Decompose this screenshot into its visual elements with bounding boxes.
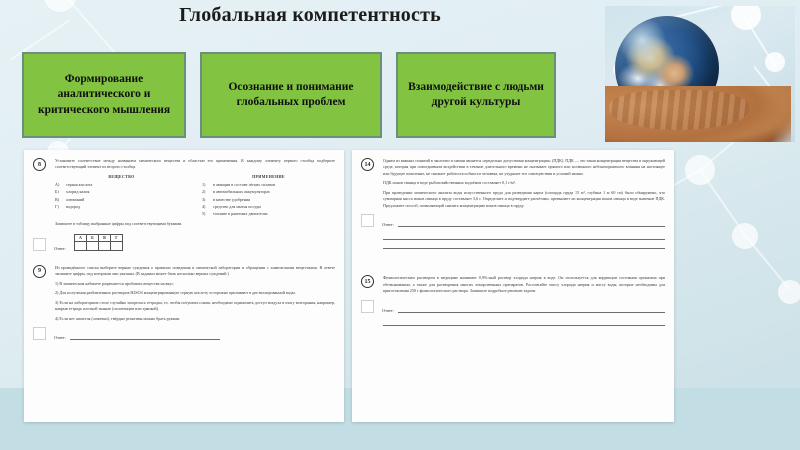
competency-box-intercultural[interactable]: Взаимодействие с людьми другой культуры bbox=[396, 52, 556, 138]
exam-page-right: 14 Одним из важных понятий в экологии и … bbox=[352, 150, 674, 422]
task-14-score-checkbox[interactable] bbox=[361, 214, 374, 227]
item-key: 4) bbox=[202, 204, 210, 210]
item-text: средство для мытья посуды bbox=[213, 204, 261, 210]
task-9-option-3: 3) Если на лабораторном столе случайно з… bbox=[55, 300, 335, 313]
competency-box-global-problems-label: Осознание и понимание глобальных проблем bbox=[208, 80, 374, 110]
task-number-badge: 15 bbox=[361, 275, 374, 288]
list-item: 1) в авиации в составе лёгких сплавов bbox=[202, 182, 335, 188]
competency-box-analytical-label: Формирование аналитического и критическо… bbox=[30, 72, 178, 118]
blank-answer-line[interactable] bbox=[383, 231, 665, 240]
item-text: в авиации в составе лёгких сплавов bbox=[213, 182, 275, 188]
hands bbox=[605, 86, 791, 142]
hands-holding-earth-photo bbox=[605, 6, 795, 142]
list-item: В) алюминий bbox=[55, 197, 188, 203]
task-8-column-applications-header: ПРИМЕНЕНИЕ bbox=[202, 174, 335, 180]
table-row bbox=[74, 241, 122, 250]
list-item: 2) в автомобильных аккумуляторах bbox=[202, 189, 335, 195]
item-key: 1) bbox=[202, 182, 210, 188]
exam-page-left: 8 Установите соответствие между название… bbox=[24, 150, 344, 422]
task-8-column-substances-header: ВЕЩЕСТВО bbox=[55, 174, 188, 180]
task-14-answer-row: Ответ: bbox=[361, 214, 665, 227]
task-8-answer-row: Ответ: А Б В Г bbox=[33, 234, 335, 251]
blank-answer-line[interactable] bbox=[383, 317, 665, 326]
task-15-answer-label: Ответ: bbox=[382, 308, 394, 313]
list-item: 5) топливо в ракетных двигателях bbox=[202, 211, 335, 217]
task-9-option-4: 4) Если нет шпателя (ложечки), твёрдые р… bbox=[55, 316, 335, 322]
item-text: серная кислота bbox=[66, 182, 92, 188]
item-key: Г) bbox=[55, 204, 63, 210]
presentation-slide: Глобальная компетентность Формирование а… bbox=[0, 0, 800, 450]
task-8-instruction: Запишите в таблицу выбранные цифры под с… bbox=[55, 221, 335, 227]
list-item: Г) водород bbox=[55, 204, 188, 210]
item-text: алюминий bbox=[66, 197, 84, 203]
list-item: А) серная кислота bbox=[55, 182, 188, 188]
task-9-statement: Из приведённого списка выберите верные с… bbox=[55, 265, 335, 278]
task-15-score-checkbox[interactable] bbox=[361, 300, 374, 313]
list-item: 3) в качестве удобрения bbox=[202, 197, 335, 203]
task-15-statement: Физиологическим раствором в медицине наз… bbox=[383, 275, 665, 294]
task-15-answer-input-line[interactable] bbox=[398, 307, 665, 313]
task-8-column-applications: ПРИМЕНЕНИЕ 1) в авиации в составе лёгких… bbox=[202, 174, 335, 219]
table-header-cell: Г bbox=[110, 234, 122, 241]
exam-task-15: 15 Физиологическим раствором в медицине … bbox=[361, 275, 665, 325]
item-text: водород bbox=[66, 204, 80, 210]
task-14-answer-input-line[interactable] bbox=[398, 221, 665, 227]
list-item: 4) средство для мытья посуды bbox=[202, 204, 335, 210]
table-row: А Б В Г bbox=[74, 234, 122, 241]
task-8-statement: Установите соответствие между названием … bbox=[55, 158, 335, 171]
table-header-cell: В bbox=[98, 234, 110, 241]
table-cell[interactable] bbox=[74, 241, 86, 250]
task-15-blank-lines bbox=[383, 317, 665, 326]
task-14-answer-label: Ответ: bbox=[382, 222, 394, 227]
table-header-cell: Б bbox=[86, 234, 98, 241]
blank-answer-line[interactable] bbox=[383, 240, 665, 249]
task-number-badge: 9 bbox=[33, 265, 46, 278]
task-8-column-substances: ВЕЩЕСТВО А) серная кислота Б) хлорид кал… bbox=[55, 174, 188, 219]
item-text: топливо в ракетных двигателях bbox=[213, 211, 268, 217]
item-text: в автомобильных аккумуляторах bbox=[213, 189, 270, 195]
competency-boxes: Формирование аналитического и критическо… bbox=[0, 52, 600, 142]
page-title: Глобальная компетентность bbox=[0, 4, 620, 27]
task-14-statement: Одним из важных понятий в экологии и хим… bbox=[383, 158, 665, 177]
task-8-score-checkbox[interactable] bbox=[33, 238, 46, 251]
exam-task-9: 9 Из приведённого списка выберите верные… bbox=[33, 265, 335, 340]
table-cell[interactable] bbox=[98, 241, 110, 250]
task-14-pdk-value: ПДК ионов свинца в воде рыбохозяйственны… bbox=[383, 180, 665, 186]
task-9-score-checkbox[interactable] bbox=[33, 327, 46, 340]
item-key: А) bbox=[55, 182, 63, 188]
table-header-cell: А bbox=[74, 234, 86, 241]
exam-task-14: 14 Одним из важных понятий в экологии и … bbox=[361, 158, 665, 249]
task-9-answer-row: Ответ: bbox=[33, 327, 335, 340]
task-14-question: При проведении химического анализа воды … bbox=[383, 190, 665, 209]
task-8-answer-label: Ответ: bbox=[54, 246, 66, 251]
item-key: 3) bbox=[202, 197, 210, 203]
task-9-answer-label: Ответ: bbox=[54, 335, 66, 340]
exam-task-8: 8 Установите соответствие между название… bbox=[33, 158, 335, 251]
item-key: В) bbox=[55, 197, 63, 203]
item-key: Б) bbox=[55, 189, 63, 195]
task-9-option-2: 2) Для получения разбавленных растворов … bbox=[55, 290, 335, 296]
table-cell[interactable] bbox=[110, 241, 122, 250]
task-number-badge: 8 bbox=[33, 158, 46, 171]
competency-box-analytical[interactable]: Формирование аналитического и критическо… bbox=[22, 52, 186, 138]
task-14-blank-lines bbox=[383, 231, 665, 249]
task-8-answer-table[interactable]: А Б В Г bbox=[74, 234, 123, 251]
task-9-answer-input-line[interactable] bbox=[70, 334, 220, 340]
item-text: хлорид калия bbox=[66, 189, 89, 195]
item-text: в качестве удобрения bbox=[213, 197, 250, 203]
task-number-badge: 14 bbox=[361, 158, 374, 171]
task-8-match-columns: ВЕЩЕСТВО А) серная кислота Б) хлорид кал… bbox=[55, 174, 335, 219]
list-item: Б) хлорид калия bbox=[55, 189, 188, 195]
item-key: 5) bbox=[202, 211, 210, 217]
competency-box-global-problems[interactable]: Осознание и понимание глобальных проблем bbox=[200, 52, 382, 138]
competency-box-intercultural-label: Взаимодействие с людьми другой культуры bbox=[404, 80, 548, 110]
task-9-option-1: 1) В химическом кабинете разрешается про… bbox=[55, 281, 335, 287]
item-key: 2) bbox=[202, 189, 210, 195]
task-15-answer-row: Ответ: bbox=[361, 300, 665, 313]
table-cell[interactable] bbox=[86, 241, 98, 250]
